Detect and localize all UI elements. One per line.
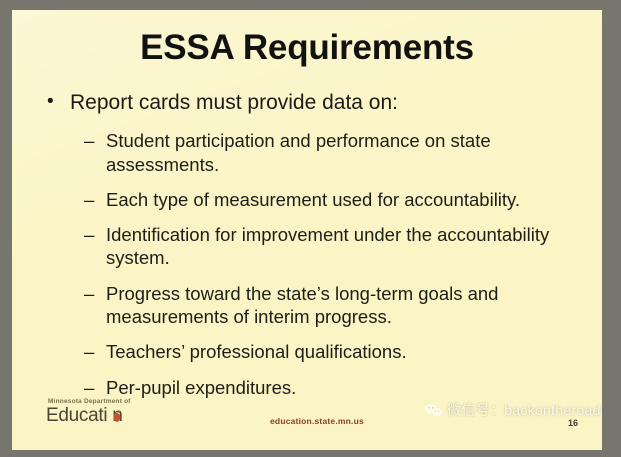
bullet-level1-text: Report cards must provide data on: [70,91,398,114]
sub-bullet-text: Teachers’ professional qualifications. [106,341,407,362]
dash-marker-icon: – [84,340,94,363]
slide-footer: Minnesota Department of Educati n educat… [12,392,602,450]
dash-marker-icon: – [84,282,94,305]
presentation-slide: ESSA Requirements • Report cards must pr… [12,10,602,450]
sub-bullet-text: Identification for improvement under the… [106,224,549,268]
list-item: – Student participation and performance … [12,129,602,176]
slide-outer-frame: ESSA Requirements • Report cards must pr… [0,0,621,457]
dash-marker-icon: – [84,188,94,211]
logo-department-line: Minnesota Department of [48,398,166,405]
mde-logo: Minnesota Department of Educati n [46,398,166,426]
website-url: education.state.mn.us [270,416,364,426]
dash-marker-icon: – [84,129,94,152]
list-item: – Teachers’ professional qualifications. [12,340,602,363]
watermark-text: 微信号：backontheroad [447,400,601,420]
list-item: – Progress toward the state’s long-term … [12,282,602,329]
apple-icon [111,410,123,423]
page-number: 16 [568,418,578,428]
list-item: – Identification for improvement under t… [12,223,602,270]
wechat-icon [424,403,443,418]
sub-bullet-text: Each type of measurement used for accoun… [106,189,520,210]
bullet-dot-marker: • [47,90,54,114]
list-item: – Each type of measurement used for acco… [12,188,602,211]
sub-bullet-list: – Student participation and performance … [12,129,602,399]
slide-body: • Report cards must provide data on: – S… [12,90,602,411]
wechat-watermark: 微信号：backontheroad [424,400,601,420]
logo-wordmark-row: Educati n [46,405,166,426]
sub-bullet-text: Progress toward the state’s long-term go… [106,283,498,327]
bullet-level1: • Report cards must provide data on: [12,90,602,116]
sub-bullet-text: Student participation and performance on… [106,130,491,174]
dash-marker-icon: – [84,223,94,246]
slide-title: ESSA Requirements [12,29,602,68]
